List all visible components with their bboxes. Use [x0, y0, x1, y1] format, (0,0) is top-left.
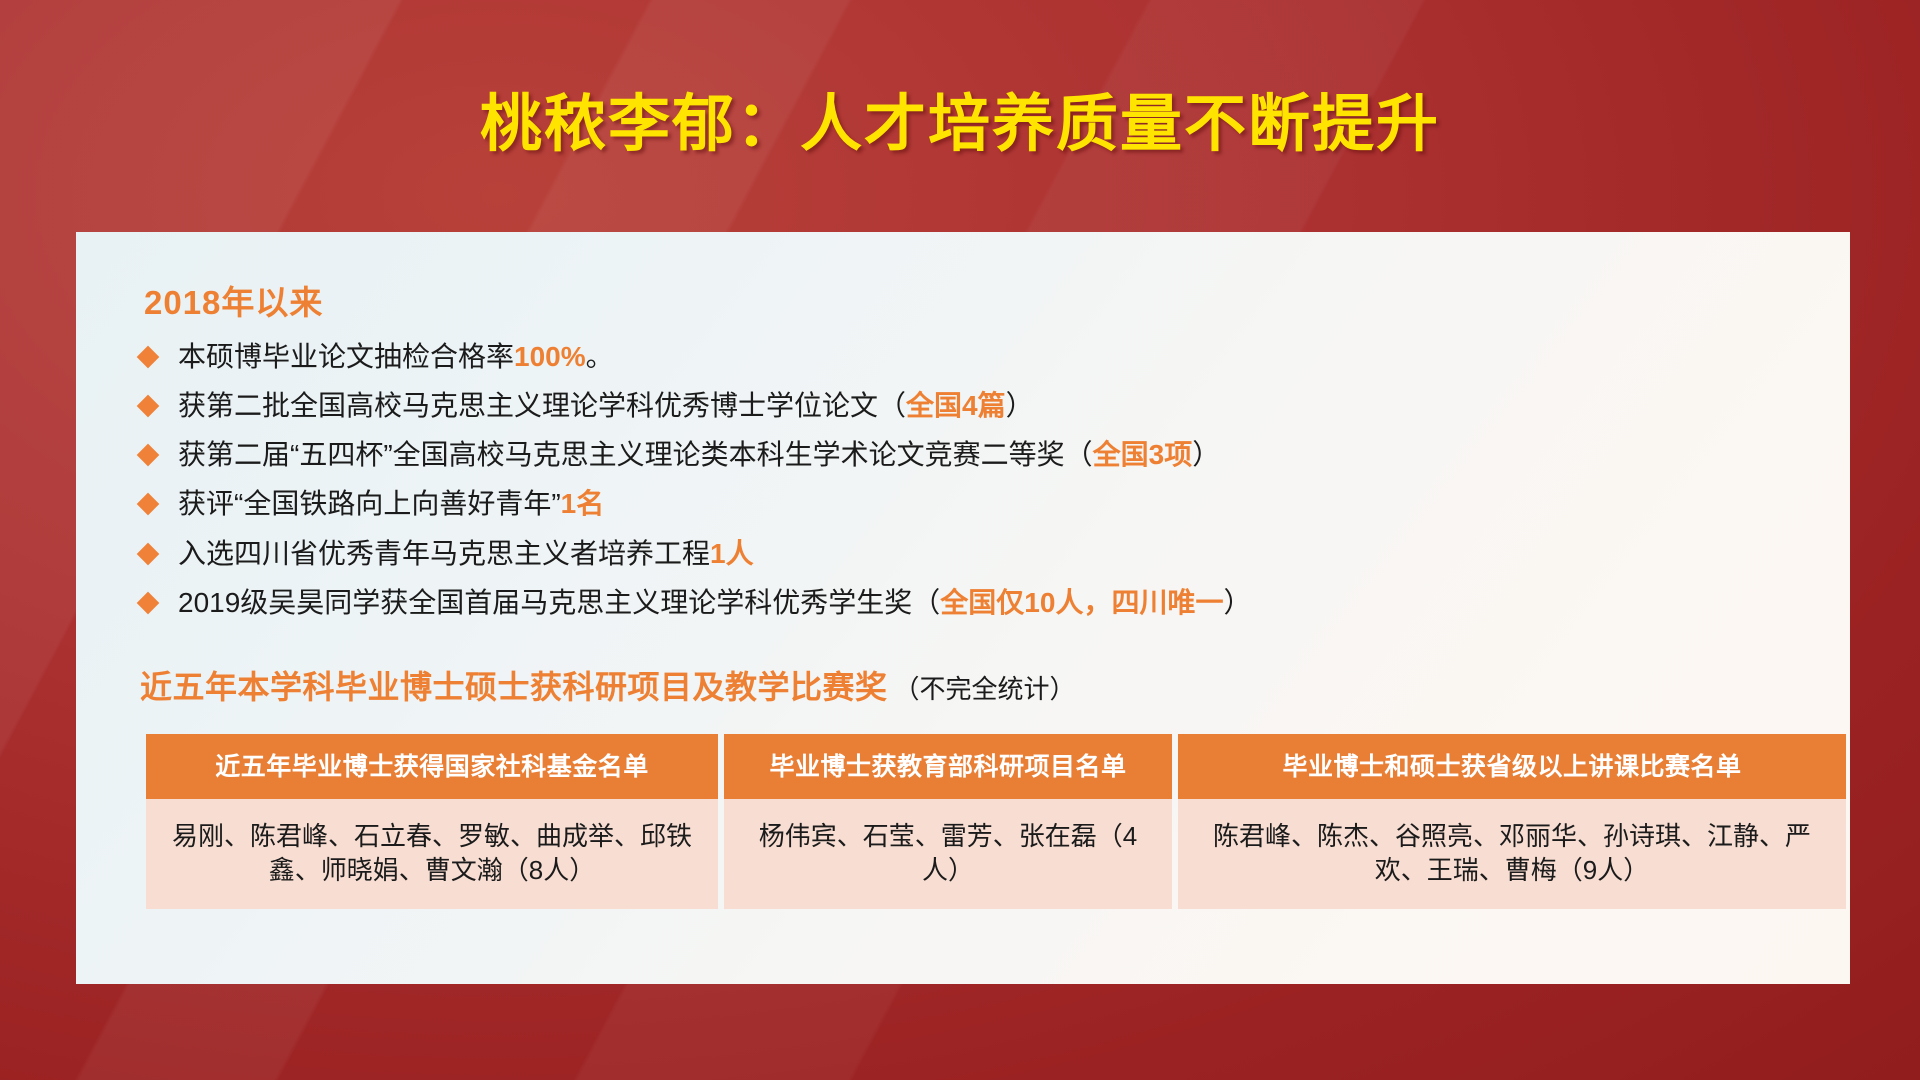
bullet-text-highlight: 全国仅10人，四川唯一: [940, 587, 1223, 618]
achievement-list: 本硕博毕业论文抽检合格率100%。 获第二批全国高校马克思主义理论学科优秀博士学…: [122, 340, 1804, 620]
table-cell-moe-projects-names: 杨伟宾、石莹、雷芳、张在磊（4人）: [724, 796, 1172, 909]
bullet-text-pre: 获评“全国铁路向上向善好青年”: [178, 488, 561, 519]
list-item: 本硕博毕业论文抽检合格率100%。: [122, 340, 1804, 374]
diamond-bullet-icon: [137, 591, 160, 614]
bullet-text-post: ）: [1192, 439, 1220, 470]
bullet-text-highlight: 1人: [710, 538, 754, 569]
subsection-heading: 近五年本学科毕业博士硕士获科研项目及教学比赛奖: [140, 669, 888, 705]
diamond-bullet-icon: [137, 346, 160, 369]
bullet-text-pre: 获第二届“五四杯”全国高校马克思主义理论类本科生学术论文竞赛二等奖（: [178, 439, 1093, 470]
content-card: 2018年以来 本硕博毕业论文抽检合格率100%。 获第二批全国高校马克思主义理…: [76, 232, 1850, 984]
diamond-bullet-icon: [137, 444, 160, 467]
bullet-text-post: ）: [1223, 587, 1251, 618]
table-header-cell-social-science-fund: 近五年毕业博士获得国家社科基金名单: [146, 734, 718, 796]
bullet-text-highlight: 1名: [561, 488, 605, 519]
table-header: 近五年毕业博士获得国家社科基金名单 毕业博士获教育部科研项目名单 毕业博士和硕士…: [146, 734, 1846, 796]
table-header-cell-teaching-contest: 毕业博士和硕士获省级以上讲课比赛名单: [1178, 734, 1846, 796]
bullet-text-highlight: 全国4篇: [906, 390, 1006, 421]
bullet-text-pre: 入选四川省优秀青年马克思主义者培养工程: [178, 538, 710, 569]
list-item: 入选四川省优秀青年马克思主义者培养工程1人: [122, 537, 1804, 571]
section-heading-since-2018: 2018年以来: [144, 276, 1804, 324]
slide-root: 桃秾李郁：人才培养质量不断提升 2018年以来 本硕博毕业论文抽检合格率100%…: [0, 0, 1920, 1080]
bullet-text-highlight: 100%: [514, 341, 586, 372]
list-item: 获第二批全国高校马克思主义理论学科优秀博士学位论文（全国4篇）: [122, 389, 1804, 423]
subsection-heading-row: 近五年本学科毕业博士硕士获科研项目及教学比赛奖（不完全统计）: [140, 662, 1804, 708]
diamond-bullet-icon: [137, 542, 160, 565]
bullet-text-pre: 2019级吴昊同学获全国首届马克思主义理论学科优秀学生奖（: [178, 587, 940, 618]
subsection-note: （不完全统计）: [894, 674, 1076, 704]
list-item: 2019级吴昊同学获全国首届马克思主义理论学科优秀学生奖（全国仅10人，四川唯一…: [122, 586, 1804, 620]
diamond-bullet-icon: [137, 395, 160, 418]
bullet-text-post: 。: [586, 341, 614, 372]
diamond-bullet-icon: [137, 493, 160, 516]
bullet-text-post: ）: [1006, 390, 1034, 421]
page-title: 桃秾李郁：人才培养质量不断提升: [480, 92, 1440, 157]
table-body: 易刚、陈君峰、石立春、罗敏、曲成举、邱铁鑫、师晓娟、曹文瀚（8人） 杨伟宾、石莹…: [146, 796, 1846, 909]
bullet-text-pre: 本硕博毕业论文抽检合格率: [178, 341, 514, 372]
table-row: 易刚、陈君峰、石立春、罗敏、曲成举、邱铁鑫、师晓娟、曹文瀚（8人） 杨伟宾、石莹…: [146, 796, 1846, 909]
title-container: 桃秾李郁：人才培养质量不断提升: [0, 92, 1920, 157]
list-item: 获第二届“五四杯”全国高校马克思主义理论类本科生学术论文竞赛二等奖（全国3项）: [122, 438, 1804, 472]
list-item: 获评“全国铁路向上向善好青年”1名: [122, 487, 1804, 521]
table-cell-social-science-fund-names: 易刚、陈君峰、石立春、罗敏、曲成举、邱铁鑫、师晓娟、曹文瀚（8人）: [146, 796, 718, 909]
bullet-text-highlight: 全国3项: [1093, 439, 1193, 470]
award-table: 近五年毕业博士获得国家社科基金名单 毕业博士获教育部科研项目名单 毕业博士和硕士…: [140, 734, 1852, 909]
bullet-text-pre: 获第二批全国高校马克思主义理论学科优秀博士学位论文（: [178, 390, 906, 421]
table-header-cell-moe-projects: 毕业博士获教育部科研项目名单: [724, 734, 1172, 796]
table-cell-teaching-contest-names: 陈君峰、陈杰、谷照亮、邓丽华、孙诗琪、江静、严欢、王瑞、曹梅（9人）: [1178, 796, 1846, 909]
table-header-row: 近五年毕业博士获得国家社科基金名单 毕业博士获教育部科研项目名单 毕业博士和硕士…: [146, 734, 1846, 796]
